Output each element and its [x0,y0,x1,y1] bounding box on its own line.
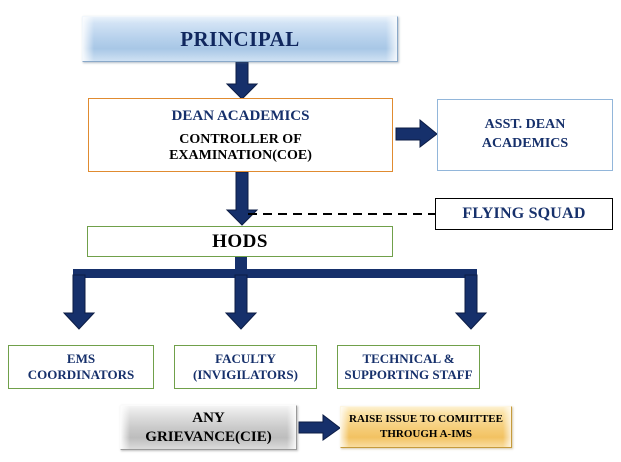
ems-label-line1: EMS [67,351,95,367]
dean-title-label: DEAN ACADEMICS [172,108,310,125]
connector-principal-to-dean [225,62,259,100]
node-principal[interactable]: PRINCIPAL [82,16,398,62]
technical-label-line2: SUPPORTING STAFF [344,367,472,383]
grievance-label-line1: ANY [192,409,225,428]
node-faculty-invigilators[interactable]: FACULTY (INVIGILATORS) [174,345,317,389]
node-asst-dean-academics[interactable]: ASST. DEAN ACADEMICS [437,99,613,171]
faculty-label-line1: FACULTY [215,351,276,367]
dean-subtitle-line2: EXAMINATION(COE) [169,148,312,164]
flying-squad-label: FLYING SQUAD [462,205,585,223]
connector-hods-to-leaves [68,257,488,347]
connector-dean-to-asst-dean [396,120,438,148]
node-hods[interactable]: HODS [87,226,393,257]
raise-issue-label-line1: RAISE ISSUE TO COMIITTEE [349,412,503,427]
ems-label-line2: COORDINATORS [28,367,134,383]
raise-issue-label-line2: THROUGH A-IMS [380,427,472,442]
hods-label: HODS [212,231,268,253]
connector-hods-to-flying-squad [248,212,438,216]
connector-dean-to-hods [225,172,259,226]
principal-label: PRINCIPAL [180,27,300,52]
asst-dean-label-line2: ACADEMICS [482,135,568,154]
asst-dean-label-line1: ASST. DEAN [485,116,566,135]
technical-label-line1: TECHNICAL & [362,351,454,367]
node-any-grievance[interactable]: ANY GRIEVANCE(CIE) [120,405,297,450]
node-dean-academics[interactable]: DEAN ACADEMICS CONTROLLER OF EXAMINATION… [88,98,393,172]
node-ems-coordinators[interactable]: EMS COORDINATORS [8,345,154,389]
faculty-label-line2: (INVIGILATORS) [193,367,298,383]
dean-subtitle-line1: CONTROLLER OF [179,132,302,148]
node-flying-squad[interactable]: FLYING SQUAD [435,198,613,230]
grievance-label-line2: GRIEVANCE(CIE) [145,428,271,447]
org-chart-diagram: PRINCIPAL DEAN ACADEMICS CONTROLLER OF E… [0,0,621,462]
node-technical-supporting-staff[interactable]: TECHNICAL & SUPPORTING STAFF [337,345,480,389]
node-raise-issue[interactable]: RAISE ISSUE TO COMIITTEE THROUGH A-IMS [340,406,512,448]
connector-grievance-to-raise-issue [299,415,341,441]
